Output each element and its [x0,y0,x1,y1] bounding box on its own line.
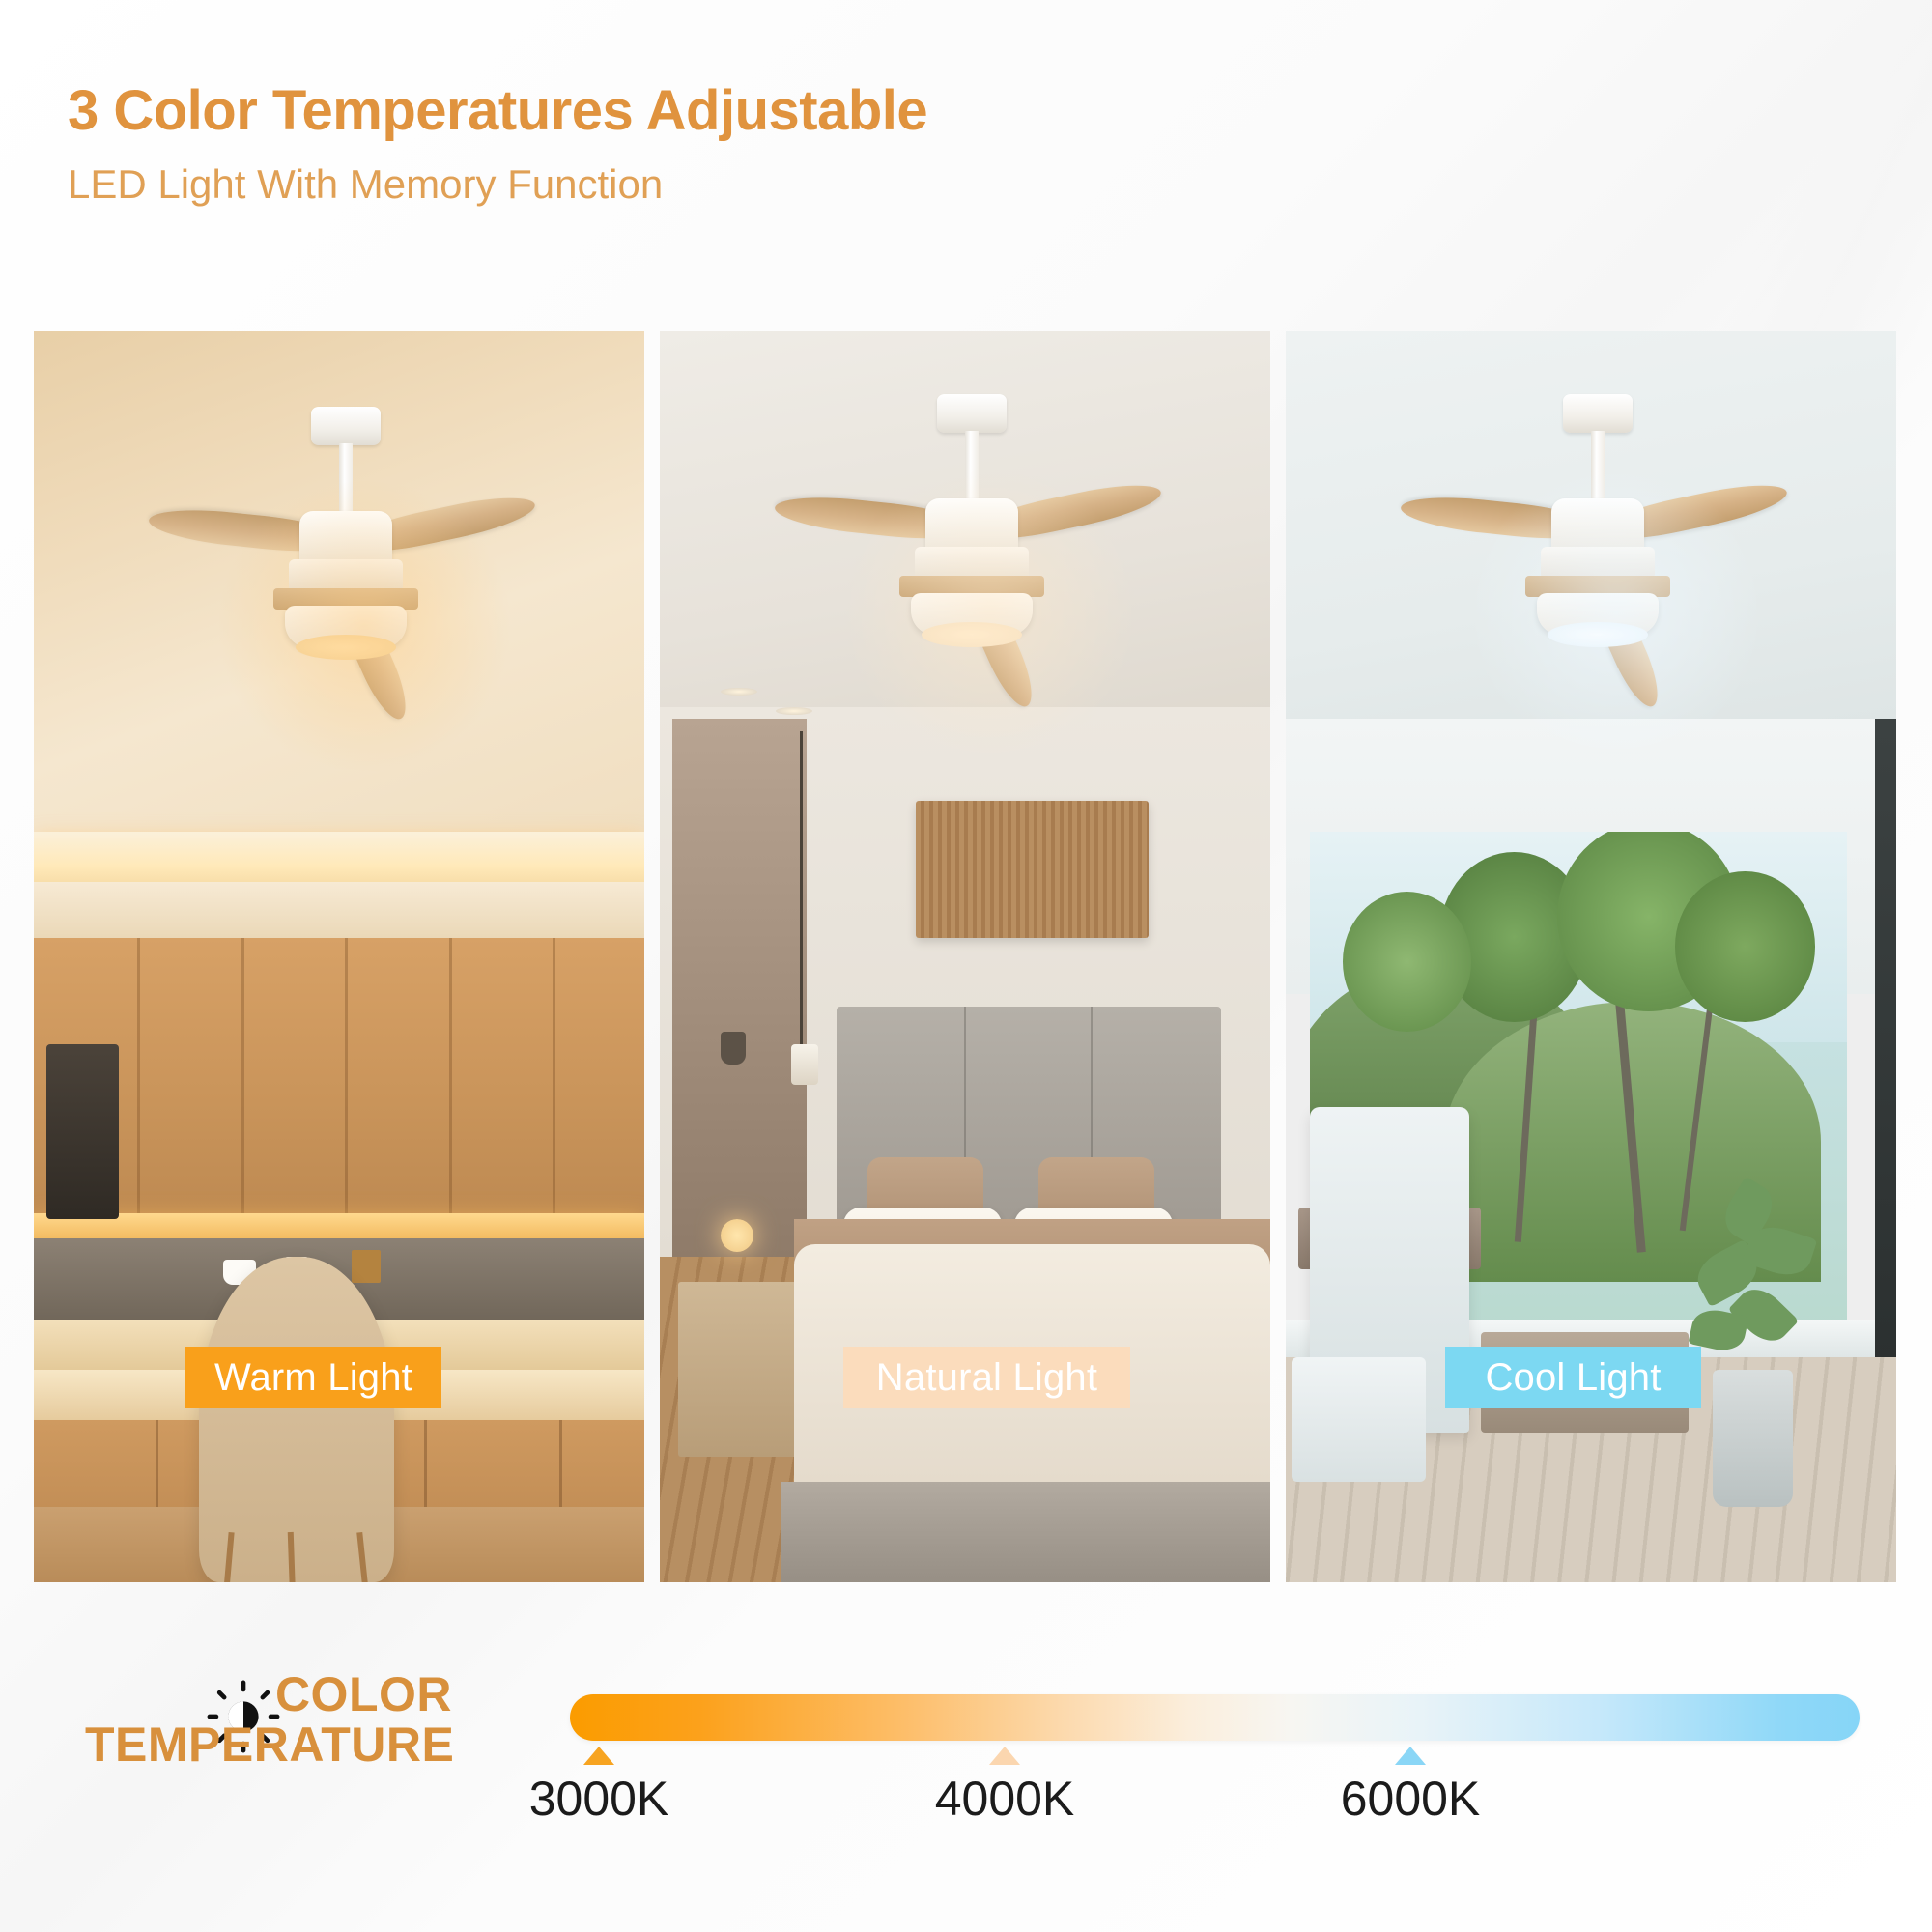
tick-4000k-label: 4000K [898,1771,1111,1827]
color-temperature-label-line1: COLOR [85,1669,452,1719]
color-temperature-section: COLOR TEMPERATURE 3000K 4000K 6000K [0,1642,1932,1932]
badge-warm-light-label: Warm Light [214,1356,412,1400]
tick-3000k-marker-icon [583,1747,614,1765]
tick-6000k: 6000K [1304,1747,1517,1827]
tick-3000k-label: 3000K [493,1771,705,1827]
tick-6000k-marker-icon [1395,1747,1426,1765]
scene-panel-cool[interactable]: Cool Light [1286,331,1896,1582]
ceiling-fan-natural [880,394,1064,655]
badge-warm-light[interactable]: Warm Light [185,1347,441,1408]
tick-3000k: 3000K [493,1747,705,1827]
ceiling-fan-warm [254,407,438,668]
badge-natural-light[interactable]: Natural Light [843,1347,1130,1408]
tick-4000k-marker-icon [989,1747,1020,1765]
badge-cool-light-label: Cool Light [1485,1356,1661,1400]
color-temperature-label-line2: TEMPERATURE [85,1719,452,1770]
scene-panel-natural[interactable]: Natural Light [660,331,1270,1582]
header: 3 Color Temperatures Adjustable LED Ligh… [68,83,927,205]
scene-panel-group: Warm Light [34,331,1896,1582]
tick-4000k: 4000K [898,1747,1111,1827]
badge-cool-light[interactable]: Cool Light [1445,1347,1701,1408]
tick-6000k-label: 6000K [1304,1771,1517,1827]
badge-natural-light-label: Natural Light [876,1356,1097,1400]
color-temperature-gradient-bar[interactable] [570,1694,1860,1741]
ceiling-fan-cool [1506,394,1690,655]
color-temperature-label: COLOR TEMPERATURE [85,1669,452,1770]
page-title: 3 Color Temperatures Adjustable [68,83,927,139]
scene-panel-warm[interactable]: Warm Light [34,331,644,1582]
page-subtitle: LED Light With Memory Function [68,164,927,205]
